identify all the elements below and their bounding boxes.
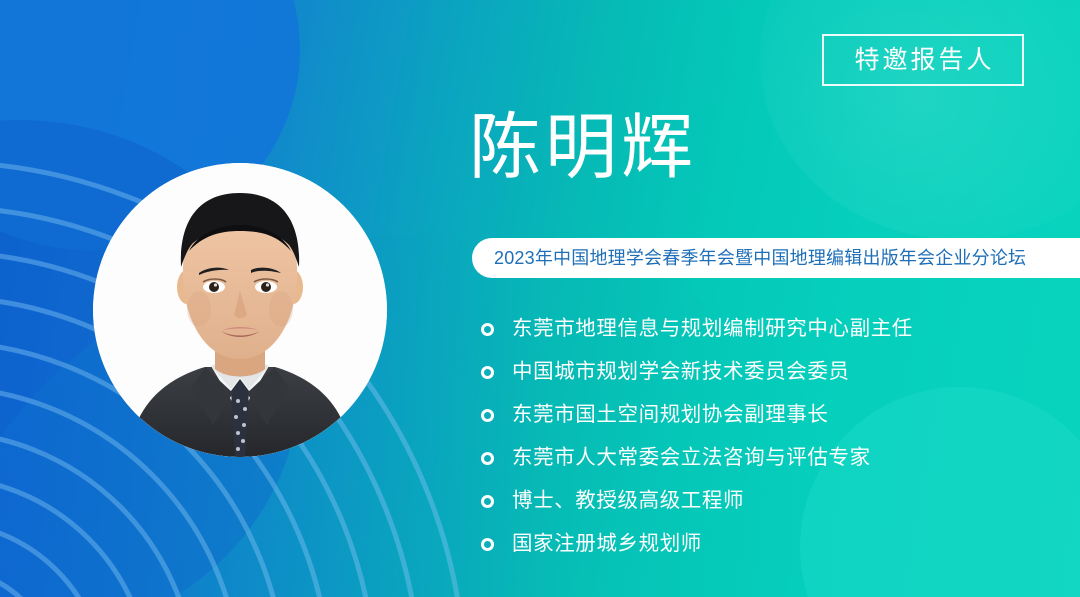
- credential-text: 中国城市规划学会新技术委员会委员: [512, 362, 850, 383]
- badge-label: 特邀报告人: [851, 48, 994, 73]
- credential-text: 东莞市国土空间规划协会副理事长: [512, 405, 829, 426]
- list-item: 东莞市国土空间规划协会副理事长: [481, 394, 913, 437]
- credential-text: 东莞市人大常委会立法咨询与评估专家: [512, 448, 871, 469]
- speaker-name: 陈明辉: [469, 112, 697, 184]
- list-item: 国家注册城乡规划师: [481, 523, 913, 566]
- ring-bullet-icon: [481, 323, 494, 336]
- list-item: 博士、教授级高级工程师: [481, 480, 913, 523]
- portrait-illustration: [93, 163, 387, 457]
- ring-bullet-icon: [481, 366, 494, 379]
- credential-text: 博士、教授级高级工程师: [512, 491, 744, 512]
- ring-bullet-icon: [481, 495, 494, 508]
- list-item: 中国城市规划学会新技术委员会委员: [481, 351, 913, 394]
- list-item: 东莞市人大常委会立法咨询与评估专家: [481, 437, 913, 480]
- speaker-portrait: [93, 163, 387, 457]
- ring-bullet-icon: [481, 409, 494, 422]
- list-item: 东莞市地理信息与规划编制研究中心副主任: [481, 308, 913, 351]
- event-subtitle-text: 2023年中国地理学会春季年会暨中国地理编辑出版年会企业分论坛: [494, 249, 1026, 267]
- event-subtitle-banner: 2023年中国地理学会春季年会暨中国地理编辑出版年会企业分论坛: [472, 238, 1080, 278]
- credential-text: 东莞市地理信息与规划编制研究中心副主任: [512, 319, 913, 340]
- invited-speaker-badge: 特邀报告人: [822, 34, 1024, 86]
- ring-bullet-icon: [481, 538, 494, 551]
- ring-bullet-icon: [481, 452, 494, 465]
- credential-text: 国家注册城乡规划师: [512, 534, 702, 555]
- credentials-list: 东莞市地理信息与规划编制研究中心副主任 中国城市规划学会新技术委员会委员 东莞市…: [481, 308, 913, 566]
- speaker-poster: 特邀报告人 陈明辉 2023年中国地理学会春季年会暨中国地理编辑出版年会企业分论…: [0, 0, 1080, 597]
